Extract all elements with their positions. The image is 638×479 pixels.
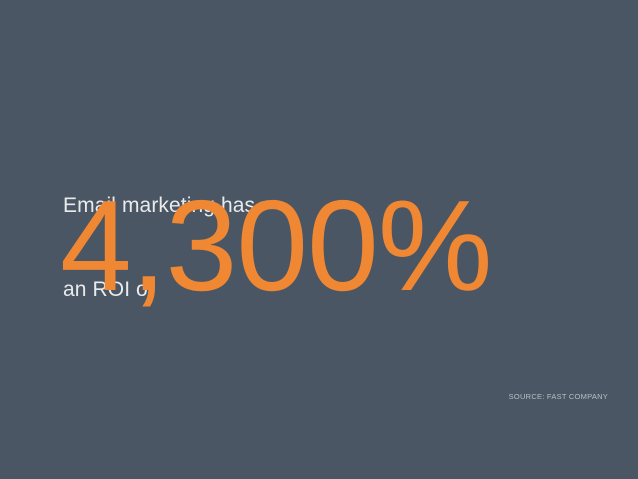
statistic-value: 4,300% <box>60 182 492 311</box>
source-credit: SOURCE: FAST COMPANY <box>509 391 608 402</box>
slide-canvas: Email marketing has an ROI of 4,300% SOU… <box>0 0 638 479</box>
